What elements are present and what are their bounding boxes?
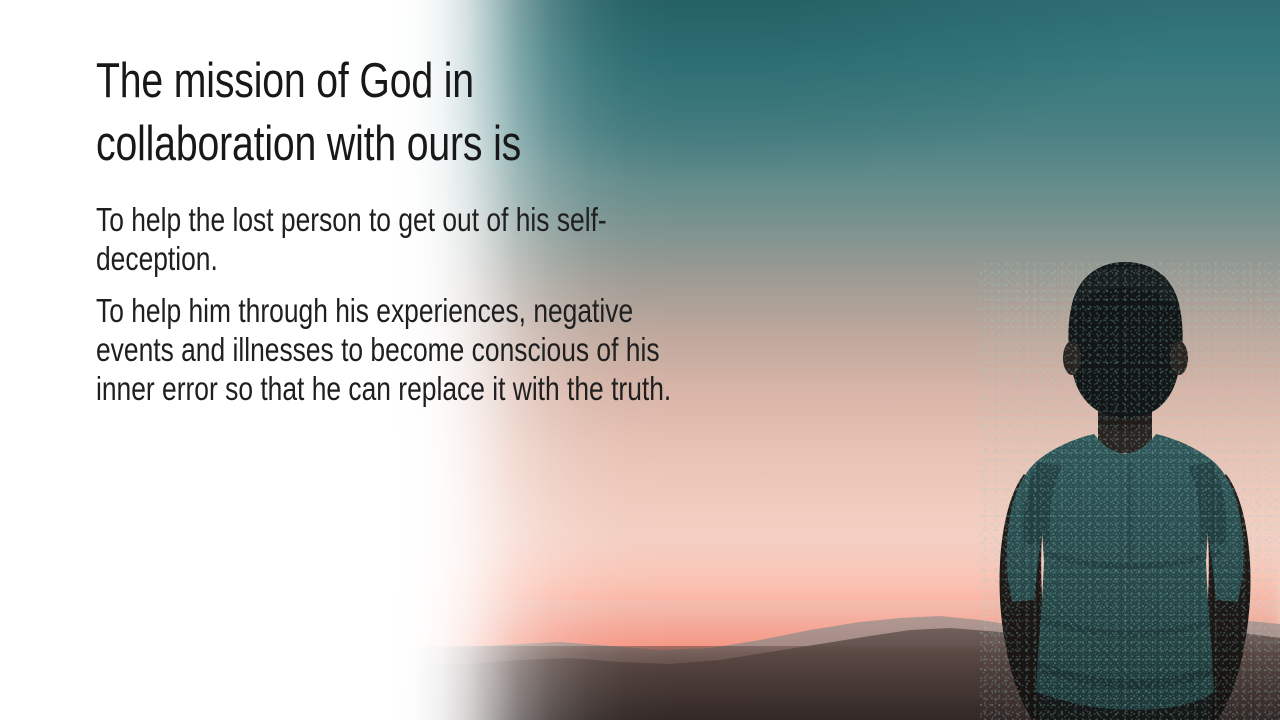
presentation-slide: The mission of God in collaboration with… [0,0,1280,720]
body-paragraph-2: To help him through his experiences, neg… [96,291,672,408]
slide-content: The mission of God in collaboration with… [96,0,796,720]
person-silhouette [980,262,1280,720]
body-paragraph-1: To help the lost person to get out of hi… [96,200,672,278]
page-title: The mission of God in collaboration with… [96,50,528,176]
